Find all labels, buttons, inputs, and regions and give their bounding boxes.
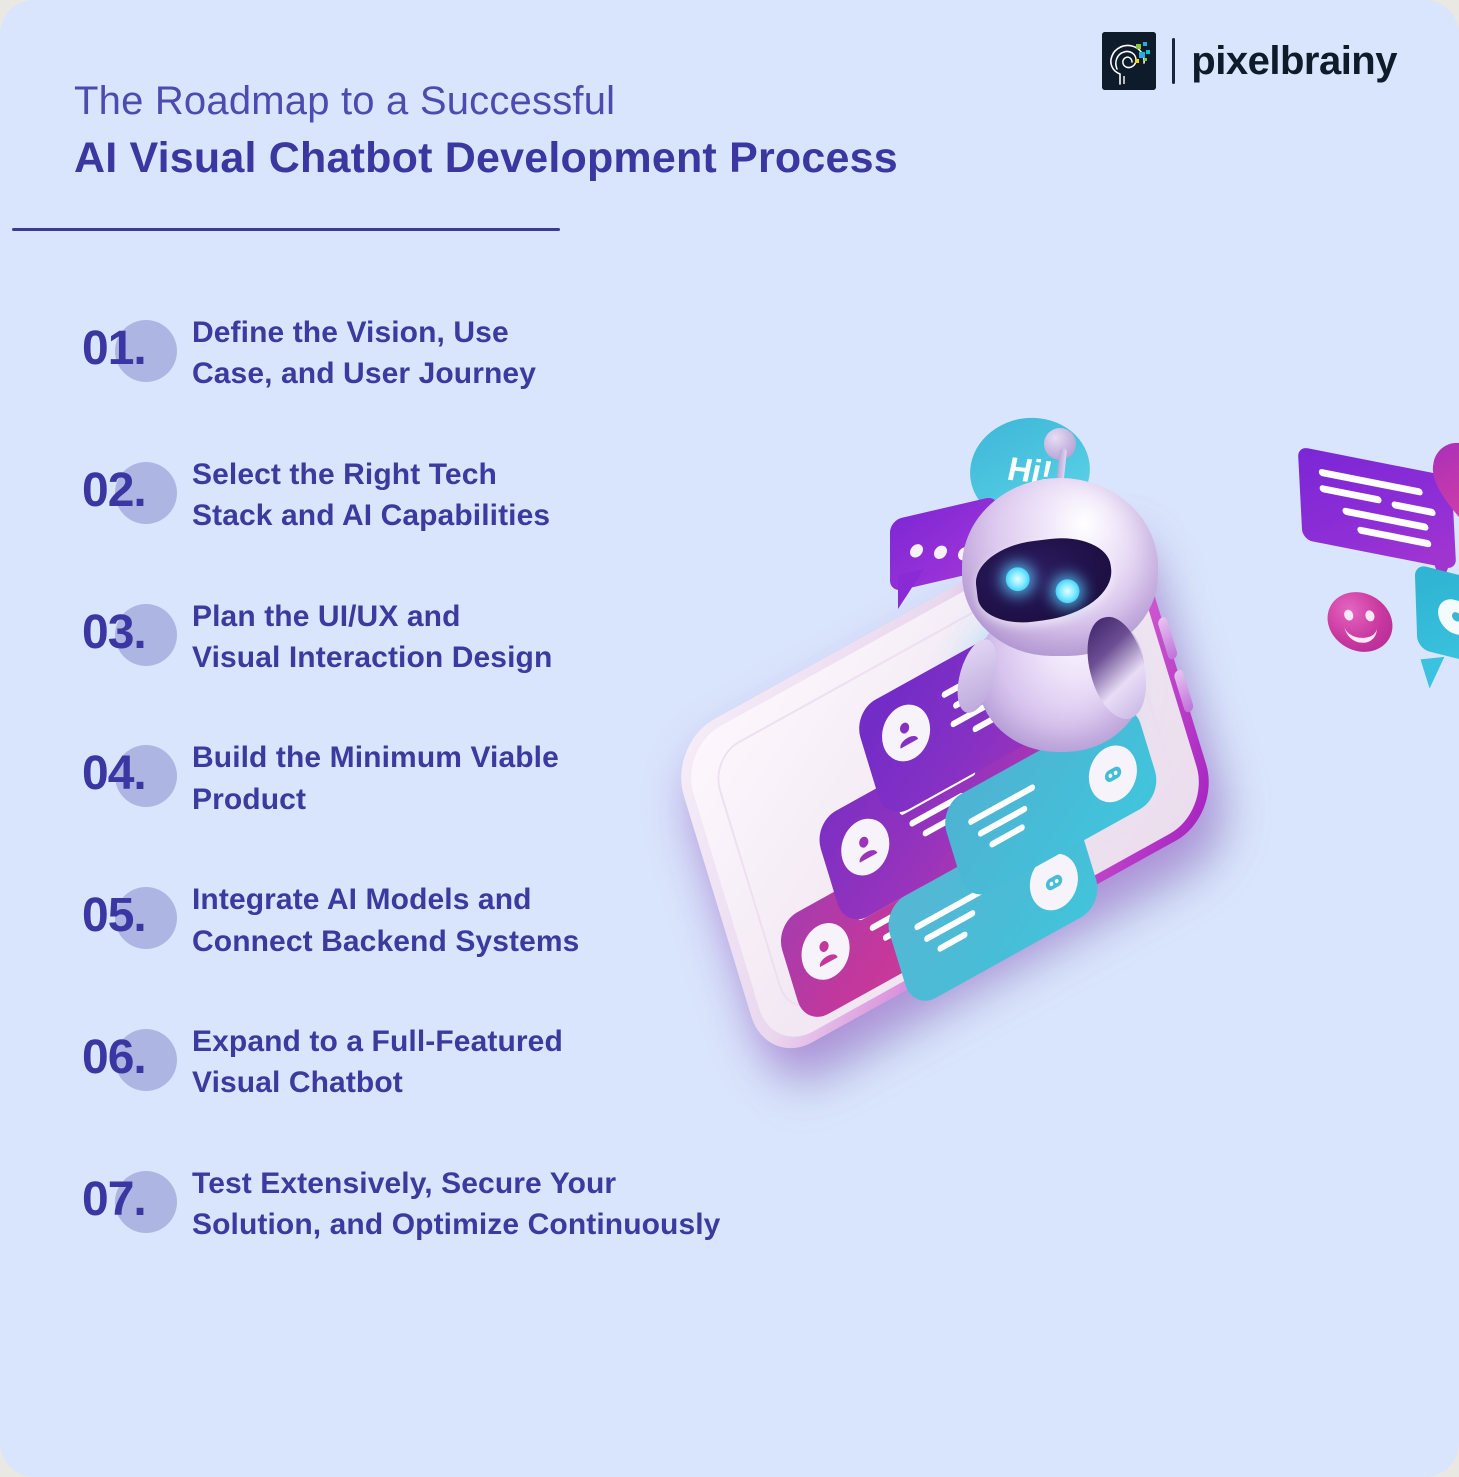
avatar [835,809,896,885]
step-number: 05. [82,892,146,940]
step-number-badge: 07. [82,1149,192,1235]
chatbot-illustration: Hi! 24/7 [640,400,1459,1120]
infographic-page: pixelbrainy The Roadmap to a Successful … [0,0,1459,1477]
step-number-badge: 05. [82,865,192,951]
step-label: Plan the UI/UX and Visual Interaction De… [192,582,552,679]
page-title: The Roadmap to a Successful AI Visual Ch… [74,78,898,185]
step-label: Define the Vision, Use Case, and User Jo… [192,298,536,395]
step-number-badge: 02. [82,440,192,526]
step-number-badge: 06. [82,1007,192,1093]
list-item: 01. Define the Vision, Use Case, and Use… [82,298,782,395]
typing-bubble-tail [898,569,924,609]
avatar [795,913,856,989]
typing-dot [910,543,923,559]
step-label: Build the Minimum Viable Product [192,723,559,820]
step-number: 07. [82,1176,146,1224]
robot-visor [972,532,1117,628]
smiley-mouth [1344,619,1379,643]
step-number: 02. [82,467,146,515]
avatar [876,695,937,771]
step-label: Integrate AI Models and Connect Backend … [192,865,579,962]
message-line [1319,485,1381,504]
title-line-1: The Roadmap to a Successful [74,78,898,125]
message-line [1391,501,1435,517]
step-number: 03. [82,609,146,657]
title-divider [12,228,560,231]
bot-bubble-tail [1420,657,1447,689]
robot-eye [1054,578,1081,605]
step-number-badge: 01. [82,298,192,384]
step-number-badge: 04. [82,723,192,809]
bot-eye [1452,611,1459,622]
message-lines [914,887,997,970]
robot-eye [1004,566,1031,593]
step-number: 06. [82,1034,146,1082]
logo-divider [1172,38,1175,84]
smiley-face-icon [1325,591,1396,653]
step-number: 04. [82,750,146,798]
bot-face [1437,596,1459,647]
list-item: 07. Test Extensively, Secure Your Soluti… [82,1149,782,1246]
step-label: Test Extensively, Secure Your Solution, … [192,1149,720,1246]
brand-name: pixelbrainy [1191,41,1397,81]
title-line-2: AI Visual Chatbot Development Process [74,133,898,185]
brand-logo[interactable]: pixelbrainy [1102,32,1397,90]
chatbot-robot [940,420,1180,750]
step-number-badge: 03. [82,582,192,668]
brain-head-spiral-icon [1102,32,1156,90]
step-number: 01. [82,325,146,373]
message-lines [967,783,1047,864]
step-label: Expand to a Full-Featured Visual Chatbot [192,1007,563,1104]
step-label: Select the Right Tech Stack and AI Capab… [192,440,550,537]
